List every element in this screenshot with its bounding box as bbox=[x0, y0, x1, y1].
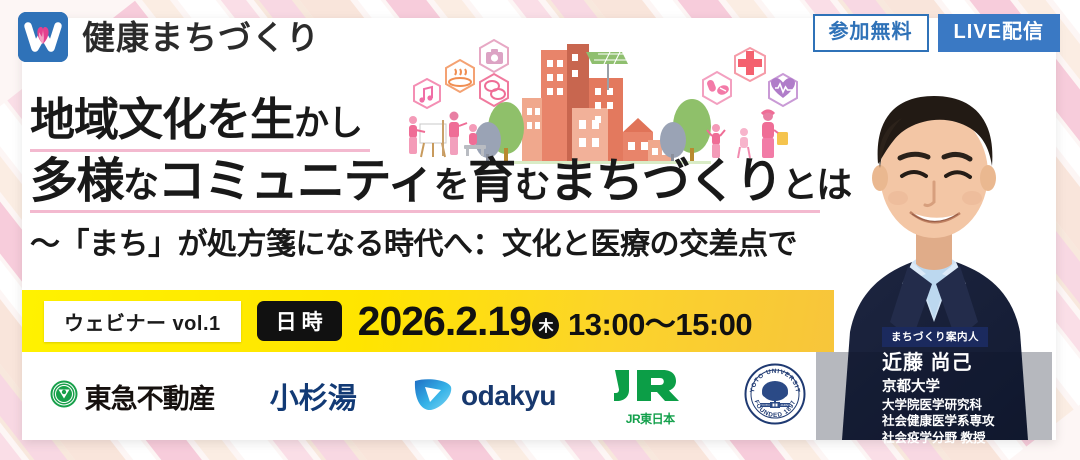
sponsor-kyoto-university: KYOTO UNIVERSITY FOUNDED 1897 KYOTO bbox=[744, 363, 806, 430]
headline-block: 地域文化を生かし 多様なコミュニティを育むまちづくりとは 〜「まち」が処方箋にな… bbox=[30, 96, 830, 263]
speaker-affiliation-1: 京都大学 bbox=[882, 378, 1046, 397]
speaker-role-badge: まちづくり案内人 bbox=[882, 327, 988, 347]
brand-header: 健康まちづくり bbox=[18, 12, 320, 62]
w-heart-logo-icon bbox=[18, 12, 68, 62]
event-date-bar: ウェビナー vol.1 日時 2026.2.19 木 13:00〜15:00 bbox=[22, 290, 834, 352]
series-badge: ウェビナー vol.1 bbox=[44, 301, 241, 342]
event-date: 2026.2.19 木 13:00〜15:00 bbox=[358, 298, 752, 345]
tokyu-green-circle-icon bbox=[50, 380, 78, 413]
speaker-name: 近藤 尚己 bbox=[882, 352, 1046, 375]
badge-live-stream: LIVE配信 bbox=[938, 14, 1060, 52]
speaker-affiliation-3: 社会健康医学系専攻 bbox=[882, 413, 1046, 430]
sponsor-tokyu-label: 東急不動産 bbox=[85, 377, 215, 416]
headline-rule-1 bbox=[30, 149, 370, 152]
sponsor-tokyu: 東急不動産 bbox=[50, 377, 215, 416]
badge-free-admission: 参加無料 bbox=[813, 14, 929, 52]
speaker-affiliation-2: 大学院医学研究科 bbox=[882, 397, 1046, 414]
event-day-of-week: 木 bbox=[532, 312, 559, 339]
brand-name: 健康まちづくり bbox=[82, 21, 320, 54]
svg-text:KYOTO: KYOTO bbox=[760, 403, 771, 407]
headline-line-1: 地域文化を生かし bbox=[30, 96, 830, 146]
date-label-badge: 日時 bbox=[257, 301, 342, 341]
speaker-affiliation-4: 社会疫学分野 教授 bbox=[882, 430, 1046, 447]
sponsor-jr-east-label: JR東日本 bbox=[626, 410, 675, 427]
badge-group: 参加無料 LIVE配信 bbox=[813, 14, 1060, 52]
sponsor-kosugiyu-label: 小杉湯 bbox=[270, 375, 357, 417]
webinar-banner: 健康まちづくり 参加無料 LIVE配信 bbox=[0, 0, 1080, 460]
sponsor-jr-east: JR東日本 bbox=[611, 366, 689, 427]
speaker-caption: まちづくり案内人 近藤 尚己 京都大学 大学院医学研究科 社会健康医学系専攻 社… bbox=[882, 327, 1046, 446]
sponsor-odakyu: odakyu bbox=[412, 375, 556, 418]
event-time: 13:00〜15:00 bbox=[568, 299, 752, 344]
event-date-value: 2026.2.19 bbox=[358, 298, 531, 345]
sponsor-odakyu-label: odakyu bbox=[461, 380, 556, 412]
sponsor-kosugiyu: 小杉湯 bbox=[270, 375, 357, 417]
sponsor-logo-row: 東急不動産 小杉湯 odakyu bbox=[22, 356, 834, 436]
odakyu-blue-mark-icon bbox=[412, 375, 454, 418]
headline-line-2: 多様なコミュニティを育むまちづくりとは bbox=[30, 157, 830, 207]
svg-text:JAPAN: JAPAN bbox=[781, 403, 790, 407]
kyoto-university-seal-icon: KYOTO UNIVERSITY FOUNDED 1897 KYOTO bbox=[744, 363, 806, 430]
headline-subtitle: 〜「まち」が処方箋になる時代へ：文化と医療の交差点で bbox=[30, 219, 830, 263]
headline-rule-2 bbox=[30, 210, 820, 213]
jr-green-logo-icon bbox=[611, 366, 689, 409]
